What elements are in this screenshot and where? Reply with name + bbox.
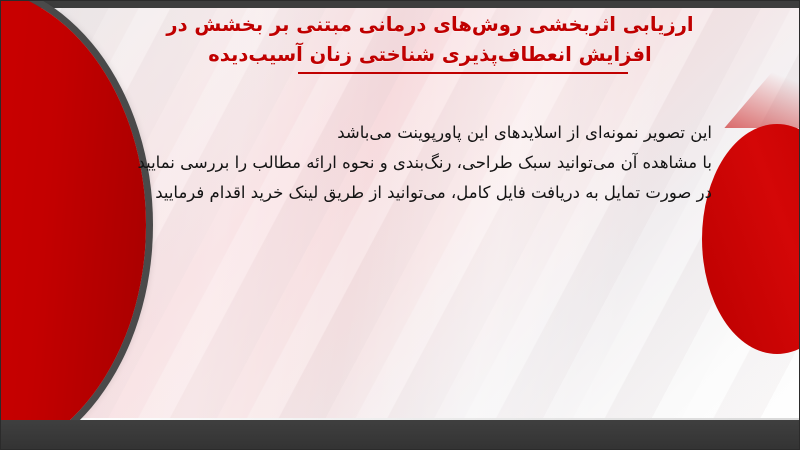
title-underline-rule [298, 72, 628, 74]
slide-title: ارزیابی اثربخشی روش‌های درمانی مبتنی بر … [120, 10, 740, 74]
title-line-2: افزایش انعطاف‌پذیری شناختی زنان آسیب‌دید… [120, 40, 740, 70]
body-line-1: این تصویر نمونه‌ای از اسلایدهای این پاور… [112, 118, 712, 148]
slide-body: این تصویر نمونه‌ای از اسلایدهای این پاور… [112, 118, 712, 208]
body-line-2: با مشاهده آن می‌توانید سبک طراحی، رنگ‌بن… [112, 148, 712, 178]
slide: ارزیابی اثربخشی روش‌های درمانی مبتنی بر … [0, 0, 800, 450]
title-line-1: ارزیابی اثربخشی روش‌های درمانی مبتنی بر … [120, 10, 740, 40]
bottom-dark-band [0, 420, 800, 450]
body-line-3: در صورت تمایل به دریافت فایل کامل، می‌تو… [112, 178, 712, 208]
